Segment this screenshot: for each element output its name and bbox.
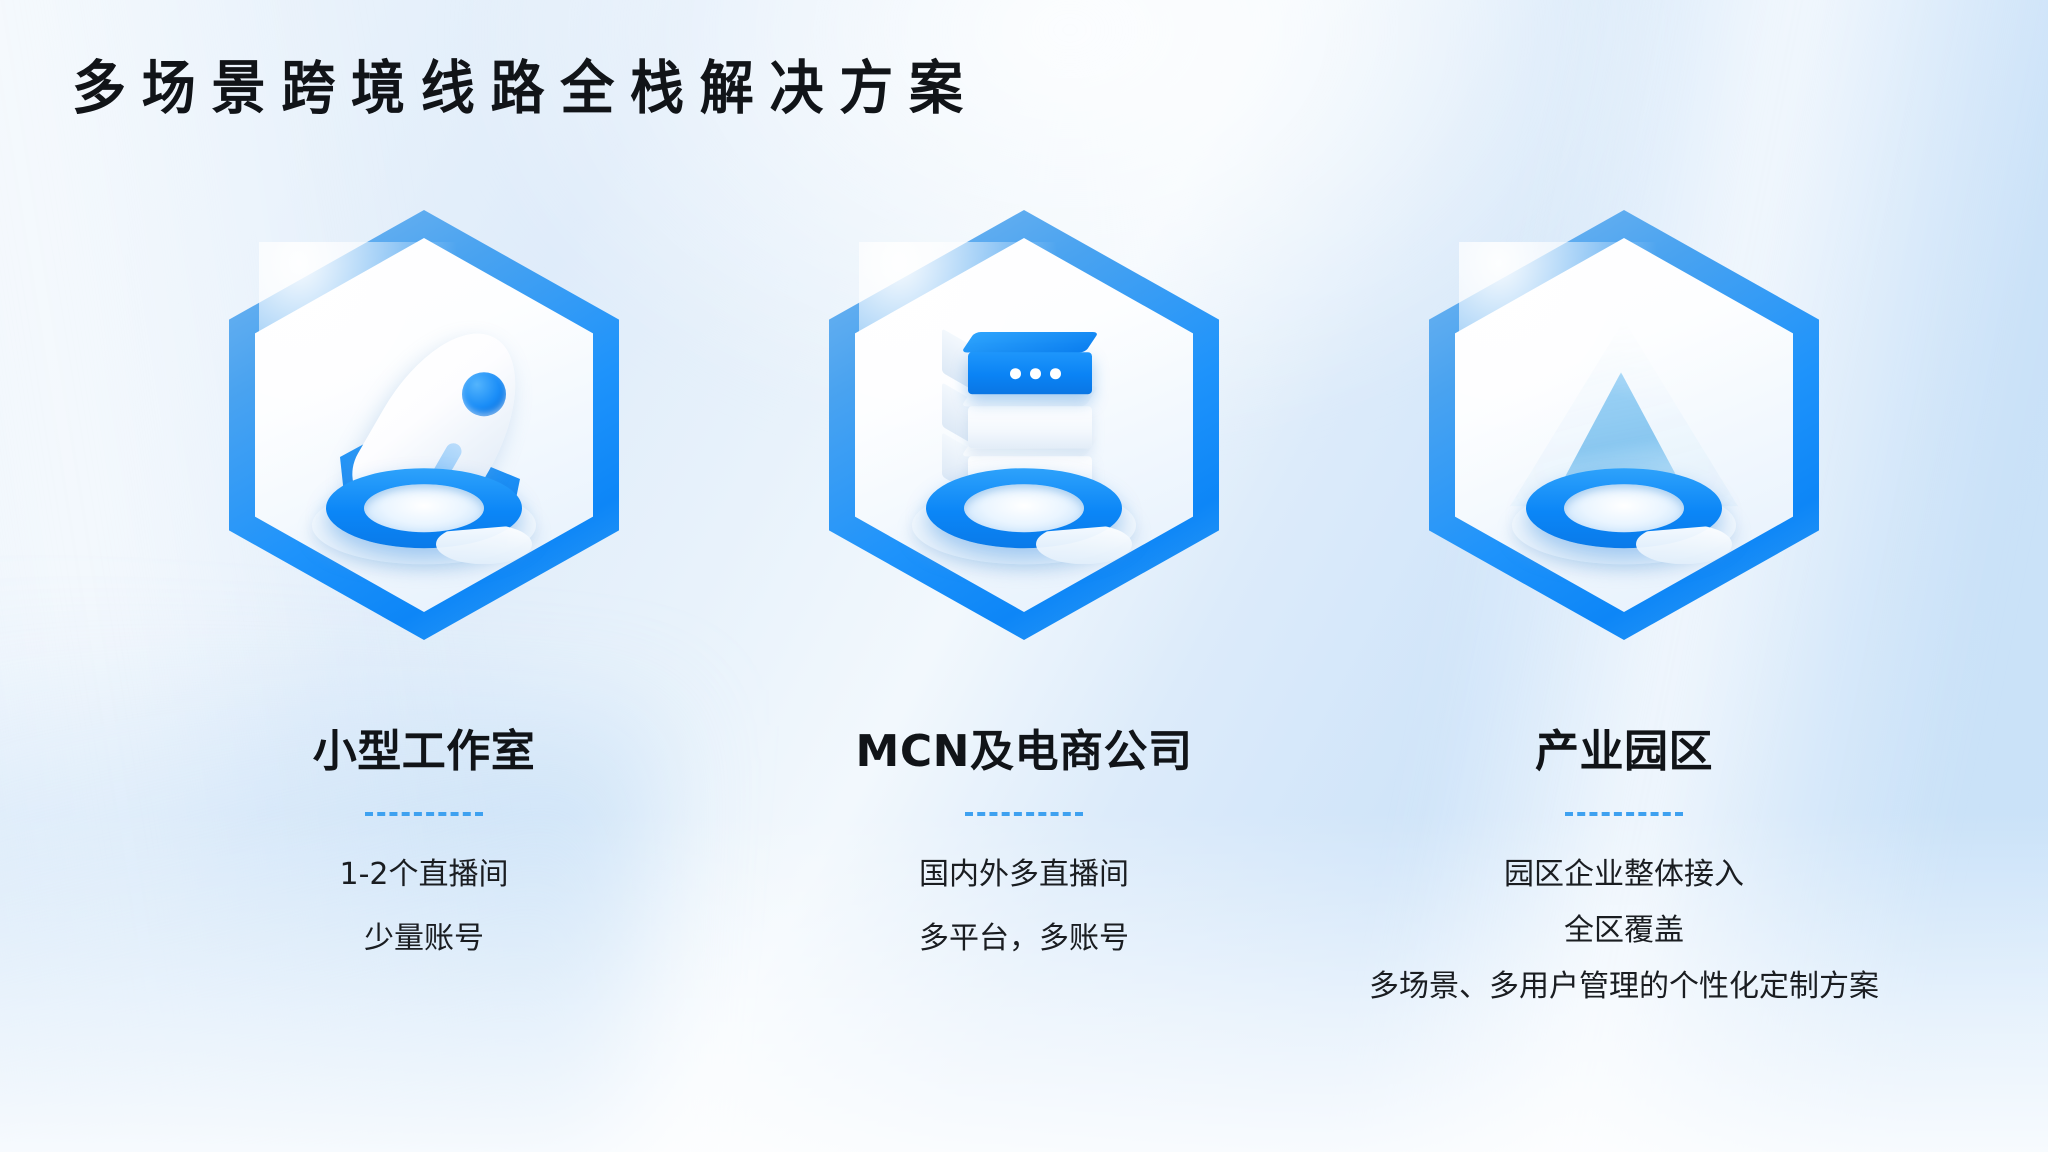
- solution-card-industrial-park[interactable]: 产业园区 园区企业整体接入 全区覆盖 多场景、多用户管理的个性化定制方案: [1324, 210, 1924, 1028]
- server-status-dots-icon: [1010, 368, 1061, 379]
- card-line: 园区企业整体接入: [1369, 860, 1879, 890]
- card-line: 多平台，多账号: [919, 924, 1129, 954]
- server-layer-top-icon: [952, 334, 1104, 386]
- hexagon-badge-3: [1429, 210, 1819, 640]
- server-status-dot-icon: [1010, 368, 1021, 379]
- card-description: 园区企业整体接入 全区覆盖 多场景、多用户管理的个性化定制方案: [1369, 860, 1879, 1028]
- rocket-icon: [294, 300, 554, 560]
- card-divider: [965, 812, 1083, 816]
- server-face-icon: [968, 406, 1092, 448]
- base-ring-icon: [326, 468, 522, 554]
- card-description: 国内外多直播间 多平台，多账号: [919, 860, 1129, 954]
- card-line: 1-2个直播间: [340, 860, 509, 890]
- card-title: MCN及电商公司: [856, 728, 1193, 776]
- card-description: 1-2个直播间 少量账号: [340, 860, 509, 954]
- card-line: 多场景、多用户管理的个性化定制方案: [1369, 972, 1879, 1002]
- base-ring-icon: [1526, 468, 1722, 554]
- card-line: 全区覆盖: [1369, 916, 1879, 946]
- card-title: 产业园区: [1535, 728, 1713, 776]
- solution-cards-row: 小型工作室 1-2个直播间 少量账号: [0, 210, 2048, 1028]
- hexagon-badge-2: [829, 210, 1219, 640]
- base-hole-icon: [964, 484, 1084, 532]
- server-lid-icon: [961, 332, 1099, 352]
- server-layer-middle-icon: [952, 388, 1104, 440]
- solution-card-studio[interactable]: 小型工作室 1-2个直播间 少量账号: [124, 210, 724, 954]
- rocket-window-icon: [462, 372, 506, 416]
- hexagon-badge-1: [229, 210, 619, 640]
- card-line: 国内外多直播间: [919, 860, 1129, 890]
- card-divider: [365, 812, 483, 816]
- solution-card-mcn[interactable]: MCN及电商公司 国内外多直播间 多平台，多账号: [724, 210, 1324, 954]
- card-divider: [1565, 812, 1683, 816]
- server-status-dot-icon: [1050, 368, 1061, 379]
- server-status-dot-icon: [1030, 368, 1041, 379]
- base-hole-icon: [364, 484, 484, 532]
- page-title: 多场景跨境线路全栈解决方案: [72, 54, 979, 122]
- server-stack-icon: [894, 300, 1154, 560]
- pyramid-icon: [1494, 300, 1754, 560]
- card-line: 少量账号: [340, 924, 509, 954]
- card-title: 小型工作室: [313, 728, 536, 776]
- base-ring-icon: [926, 468, 1122, 554]
- base-hole-icon: [1564, 484, 1684, 532]
